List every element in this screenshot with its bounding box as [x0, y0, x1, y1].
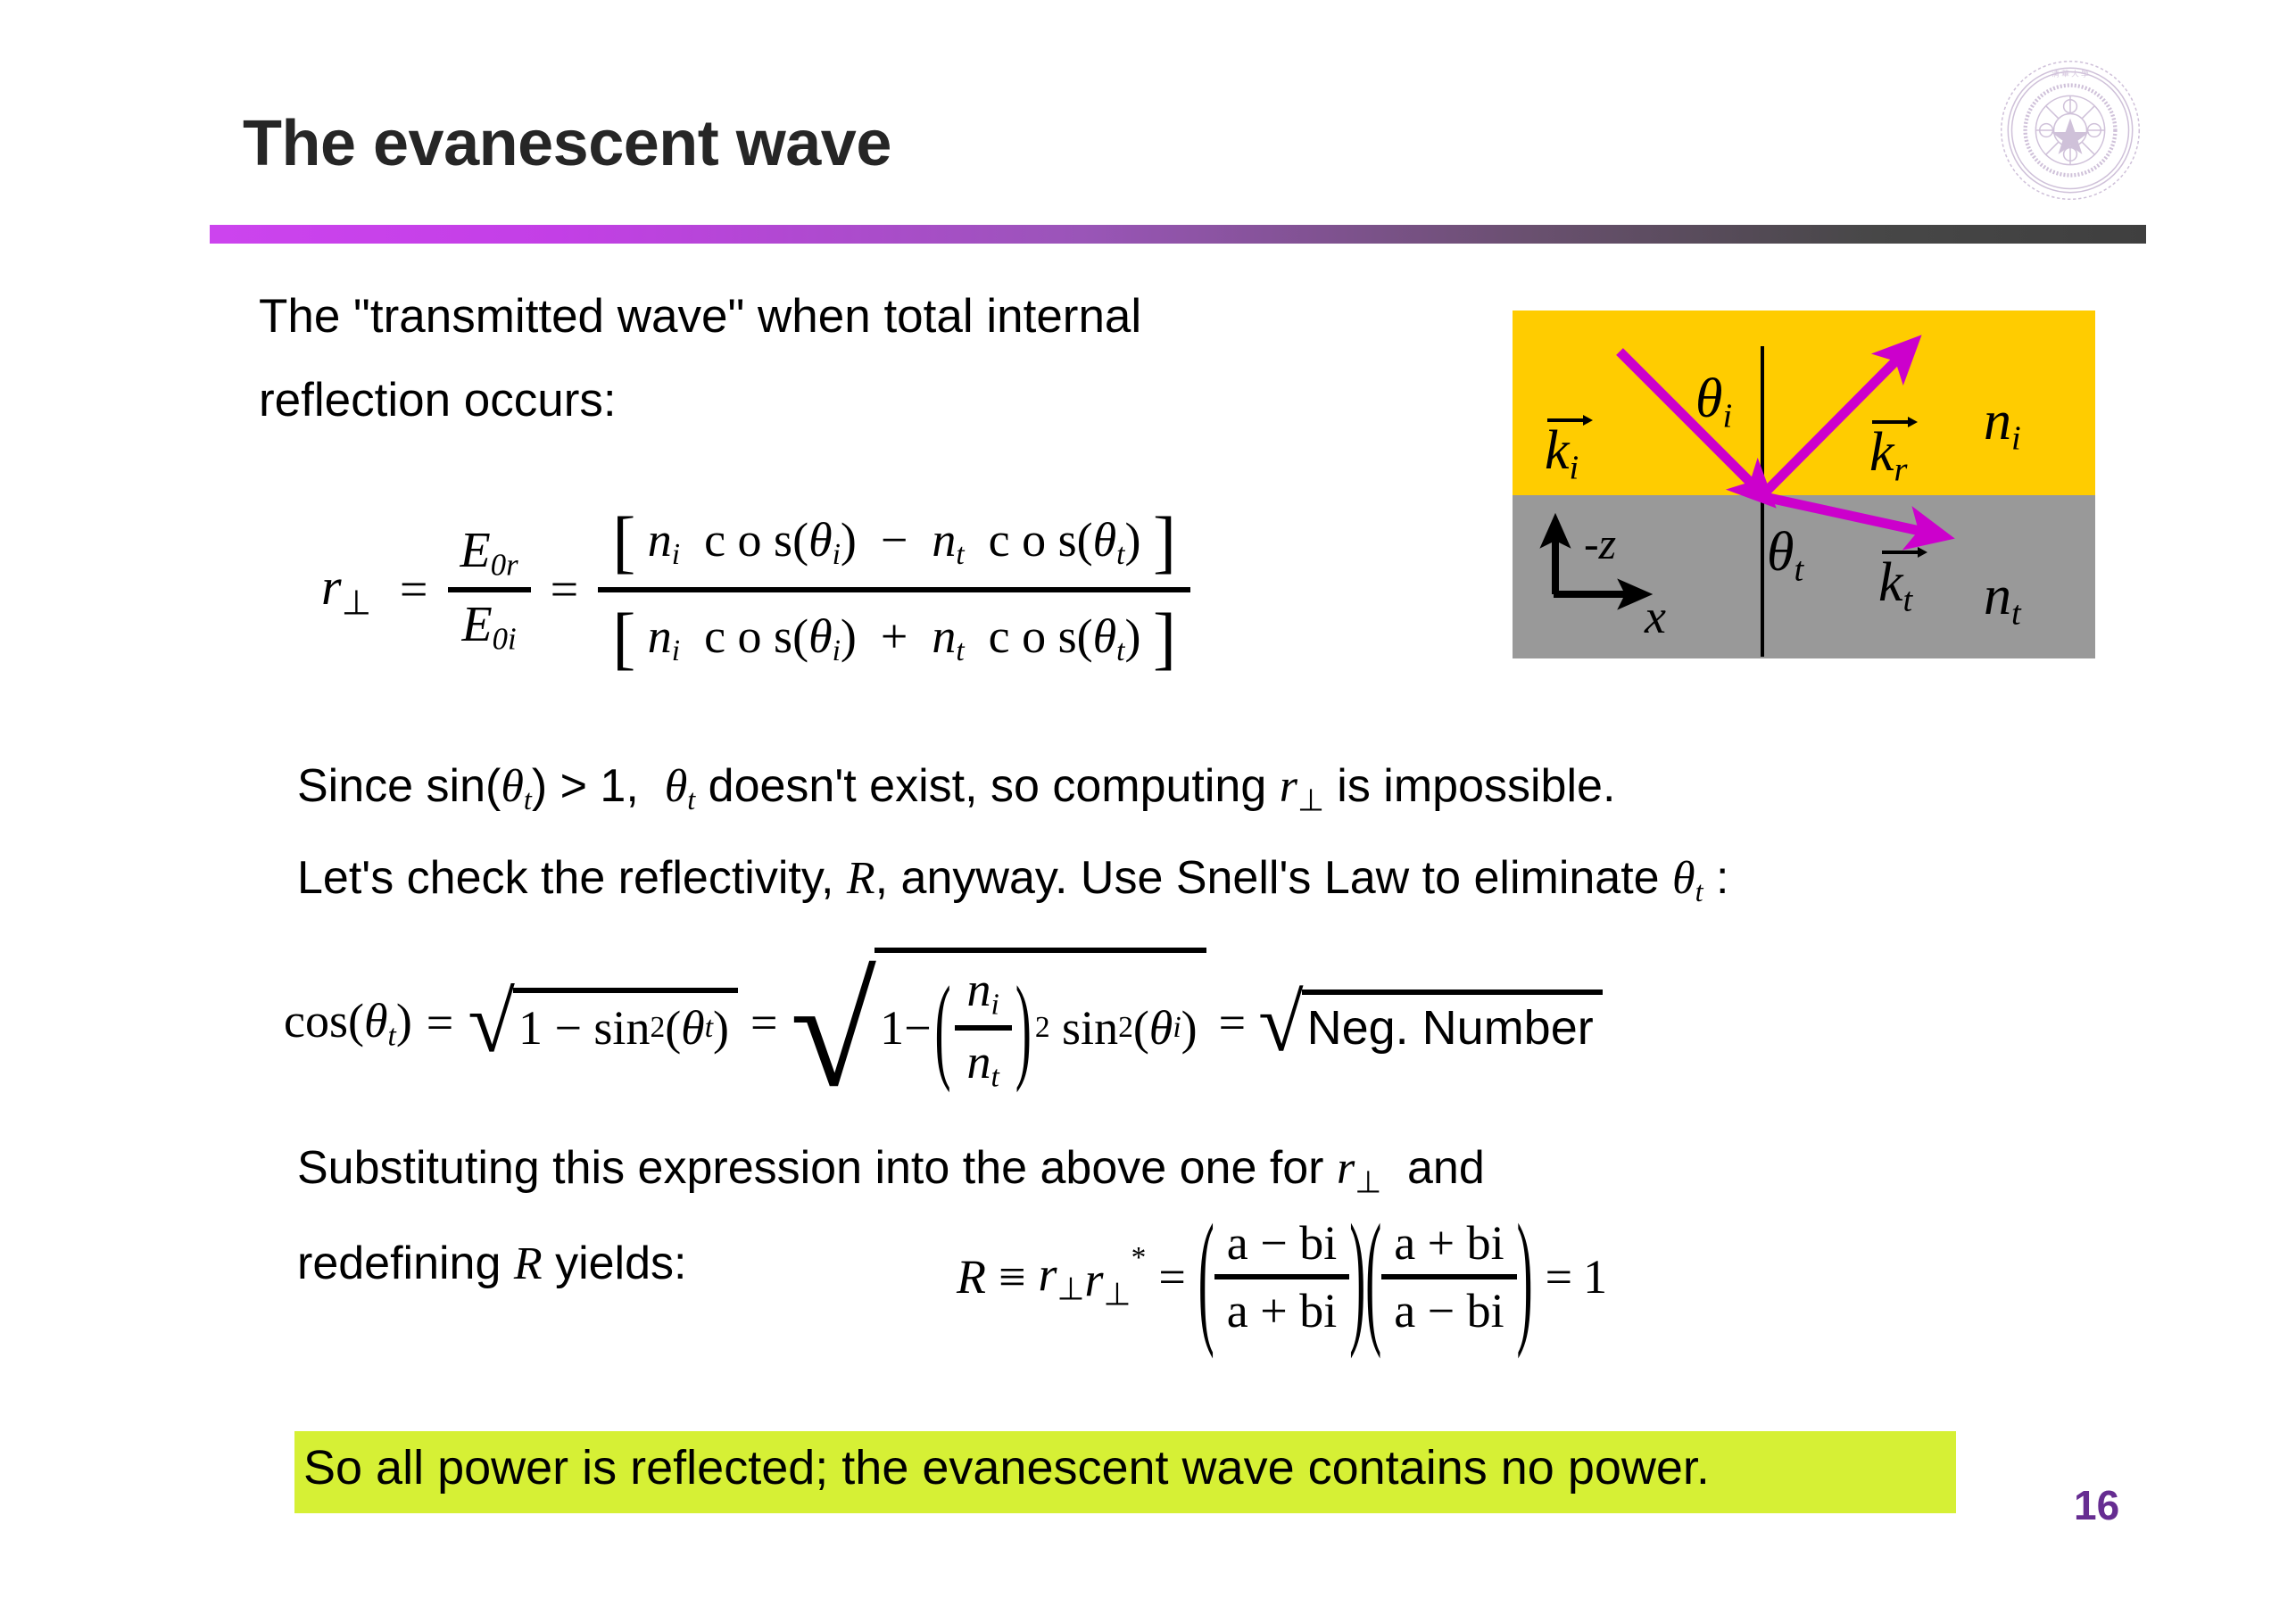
eq-R-equals-1: = [1158, 1249, 1185, 1304]
eq-fresnel-E0i: E0i [449, 592, 528, 661]
equation-cos-theta-t: cos(θt) = √ 1 − sin2(θt) = √ 1 − ( ni nt [284, 948, 1603, 1098]
n-t-denominator: nt [955, 1031, 1012, 1097]
paragraph-lets-check: Let's check the reflectivity, R, anyway.… [297, 855, 1728, 906]
fraction-2-denominator: a − bi [1381, 1279, 1516, 1342]
paragraph-redefining: redefining R yields: [297, 1240, 686, 1288]
conclusion-highlight-box: So all power is reflected; the evanescen… [294, 1431, 1956, 1513]
label-n-t: nt [1984, 568, 2021, 631]
eq-fresnel-E0r: E0r [448, 518, 531, 587]
slide-title: The evanescent wave [243, 107, 891, 180]
n-i-numerator: ni [955, 958, 1012, 1025]
label-k-transmitted: kt [1878, 555, 1912, 617]
eq-fresnel-ncos-ratio: [ ni c o s(θi) − nt c o s(θt) ] [ ni c o… [598, 496, 1190, 683]
eq-fresnel-E-ratio: E0r E0i [448, 518, 531, 660]
fraction-2-numerator: a + bi [1381, 1212, 1516, 1274]
total-internal-reflection-diagram: ki kr kt θi θt ni nt -z x [1513, 311, 2095, 658]
eq-R-fraction-2: a + bi a − bi [1381, 1212, 1516, 1342]
incident-ray-arrow [1620, 352, 1760, 492]
eq-fresnel-equals-2: = [551, 561, 579, 618]
label-axis-z: -z [1584, 521, 1616, 566]
label-theta-t: θt [1767, 525, 1803, 587]
paren-close-2: ) [1517, 1191, 1533, 1362]
paragraph-since: Since sin(θt) > 1, θt doesn't exist, so … [297, 763, 1615, 816]
conclusion-text: So all power is reflected; the evanescen… [303, 1440, 1710, 1495]
label-k-incident: ki [1545, 423, 1579, 485]
intro-line-1: The "transmitted wave" when total intern… [259, 293, 1141, 340]
label-k-reflected: kr [1869, 425, 1907, 487]
label-axis-x: x [1645, 592, 1666, 641]
eq-fresnel-lhs: r⊥ [321, 557, 371, 623]
radical-sign: √ [468, 988, 515, 1058]
radical-neg-number: √ Neg. Number [1258, 990, 1603, 1056]
svg-text:清 華 大 學: 清 華 大 學 [2051, 69, 2089, 79]
title-divider-bar [210, 225, 2146, 244]
eq-cos-lhs: cos(θt) [284, 993, 412, 1053]
paragraph-substituting: Substituting this expression into the ab… [297, 1145, 1485, 1198]
eq-cos-equals-3: = [1219, 995, 1246, 1050]
index-ratio-fraction: ni nt [955, 958, 1012, 1098]
paren-close-1: ) [1349, 1191, 1365, 1362]
slide-root: The evanescent wave [0, 0, 2296, 1623]
eq-R-lhs: R [957, 1249, 986, 1304]
paren-open-2: ( [1365, 1191, 1381, 1362]
eq-R-equals-2: = [1546, 1249, 1572, 1304]
paren-open-1: ( [1198, 1191, 1214, 1362]
radical-one-minus-sin2-theta-t: √ 1 − sin2(θt) [468, 988, 738, 1058]
eq-R-fraction-1: a − bi a + bi [1214, 1212, 1349, 1342]
fraction-1-numerator: a − bi [1214, 1212, 1349, 1274]
eq-R-r-perp: r⊥ [1038, 1246, 1084, 1308]
eq-fresnel-denominator: [ ni c o s(θi) + nt c o s(θt) ] [598, 592, 1190, 683]
neg-number-text: Neg. Number [1307, 1000, 1594, 1056]
eq-cos-equals-2: = [750, 995, 777, 1050]
intro-line-2: reflection occurs: [259, 377, 617, 424]
eq-R-r-perp-star: r⊥* [1085, 1241, 1147, 1312]
equation-reflectivity-R: R ≡ r⊥ r⊥* = ( a − bi a + bi ) ( a + bi … [957, 1212, 1607, 1342]
radical-one-minus-ratio-sin2: √ 1 − ( ni nt )2 sin2(θi) [790, 948, 1206, 1098]
fraction-1-denominator: a + bi [1214, 1279, 1349, 1342]
label-theta-i: θi [1695, 371, 1732, 434]
paren-open: ( [935, 960, 951, 1096]
tsing-hua-university-seal-logo: 清 華 大 學 [1995, 55, 2145, 205]
radical-sign: √ [790, 948, 876, 1098]
eq-R-equiv: ≡ [999, 1249, 1025, 1304]
eq-R-result: 1 [1583, 1249, 1607, 1304]
eq-fresnel-numerator: [ ni c o s(θi) − nt c o s(θt) ] [598, 496, 1190, 587]
eq-cos-equals-1: = [427, 995, 453, 1050]
page-number: 16 [2074, 1481, 2119, 1529]
radical-sign: √ [1258, 990, 1304, 1056]
paren-close: ) [1015, 960, 1032, 1096]
label-n-i: ni [1984, 393, 2021, 456]
eq-fresnel-equals-1: = [400, 561, 428, 618]
equation-fresnel-rperp: r⊥ = E0r E0i = [ ni c o s(θi) − nt c o s… [321, 496, 1190, 683]
